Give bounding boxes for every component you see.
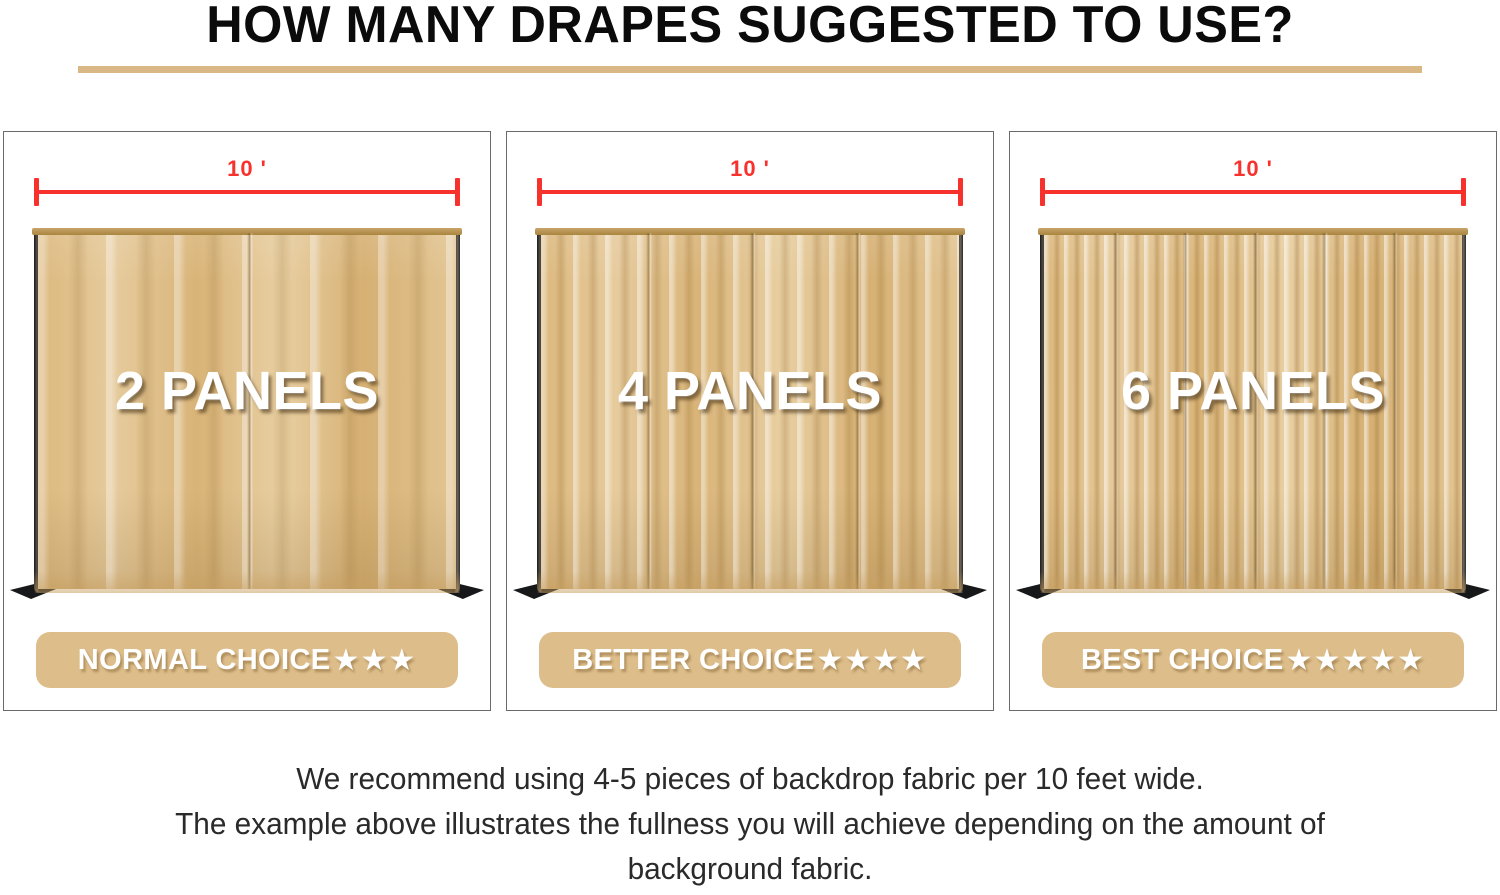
choice-badge-label: BETTER CHOICE: [572, 644, 814, 677]
star-rating: ★★★★★: [1286, 643, 1425, 678]
drape-option-card-2-panels[interactable]: 10 ' 2 PANELS NORMAL CHOICE ★★★: [3, 131, 491, 711]
dimension-endcap-left: [1040, 178, 1045, 206]
choice-badge: NORMAL CHOICE ★★★: [36, 632, 458, 688]
drape-option-card-4-panels[interactable]: 10 ' 4 PANELS BETTER CHOICE ★★★★: [506, 131, 994, 711]
dimension-endcap-right: [455, 178, 460, 206]
dimension-indicator: 10 ': [1040, 190, 1466, 192]
dimension-line: [34, 190, 460, 194]
drape-hem: [537, 571, 963, 593]
drape-option-card-6-panels[interactable]: 10 ' 6 PANELS BEST CHOICE ★★★★: [1009, 131, 1497, 711]
panel-count-label: 4 PANELS: [507, 364, 993, 418]
dimension-indicator: 10 ': [34, 190, 460, 192]
panel-count-label: 6 PANELS: [1010, 364, 1496, 418]
dimension-endcap-left: [537, 178, 542, 206]
dimension-label: 10 ': [1040, 156, 1466, 182]
title-divider: [78, 66, 1422, 73]
star-rating: ★★★: [333, 643, 417, 678]
caption-line-1: We recommend using 4-5 pieces of backdro…: [30, 756, 1470, 801]
infographic-page: HOW MANY DRAPES SUGGESTED TO USE? 10 ': [0, 0, 1500, 895]
comparison-card-row: 10 ' 2 PANELS NORMAL CHOICE ★★★: [3, 131, 1497, 711]
footer-caption: We recommend using 4-5 pieces of backdro…: [0, 756, 1500, 891]
panel-count-label: 2 PANELS: [4, 364, 490, 418]
star-rating: ★★★★: [816, 643, 928, 678]
caption-line-2: The example above illustrates the fullne…: [30, 801, 1470, 846]
choice-badge-label: BEST CHOICE: [1081, 644, 1284, 677]
dimension-line: [537, 190, 963, 194]
dimension-endcap-right: [958, 178, 963, 206]
dimension-label: 10 ': [537, 156, 963, 182]
dimension-endcap-right: [1461, 178, 1466, 206]
page-title: HOW MANY DRAPES SUGGESTED TO USE?: [23, 0, 1478, 54]
choice-badge: BETTER CHOICE ★★★★: [539, 632, 961, 688]
choice-badge: BEST CHOICE ★★★★★: [1042, 632, 1464, 688]
choice-badge-label: NORMAL CHOICE: [78, 644, 331, 677]
caption-line-3: background fabric.: [30, 846, 1470, 891]
dimension-endcap-left: [34, 178, 39, 206]
dimension-label: 10 ': [34, 156, 460, 182]
drape-hem: [1040, 571, 1466, 593]
drape-hem: [34, 571, 460, 593]
dimension-indicator: 10 ': [537, 190, 963, 192]
dimension-line: [1040, 190, 1466, 194]
